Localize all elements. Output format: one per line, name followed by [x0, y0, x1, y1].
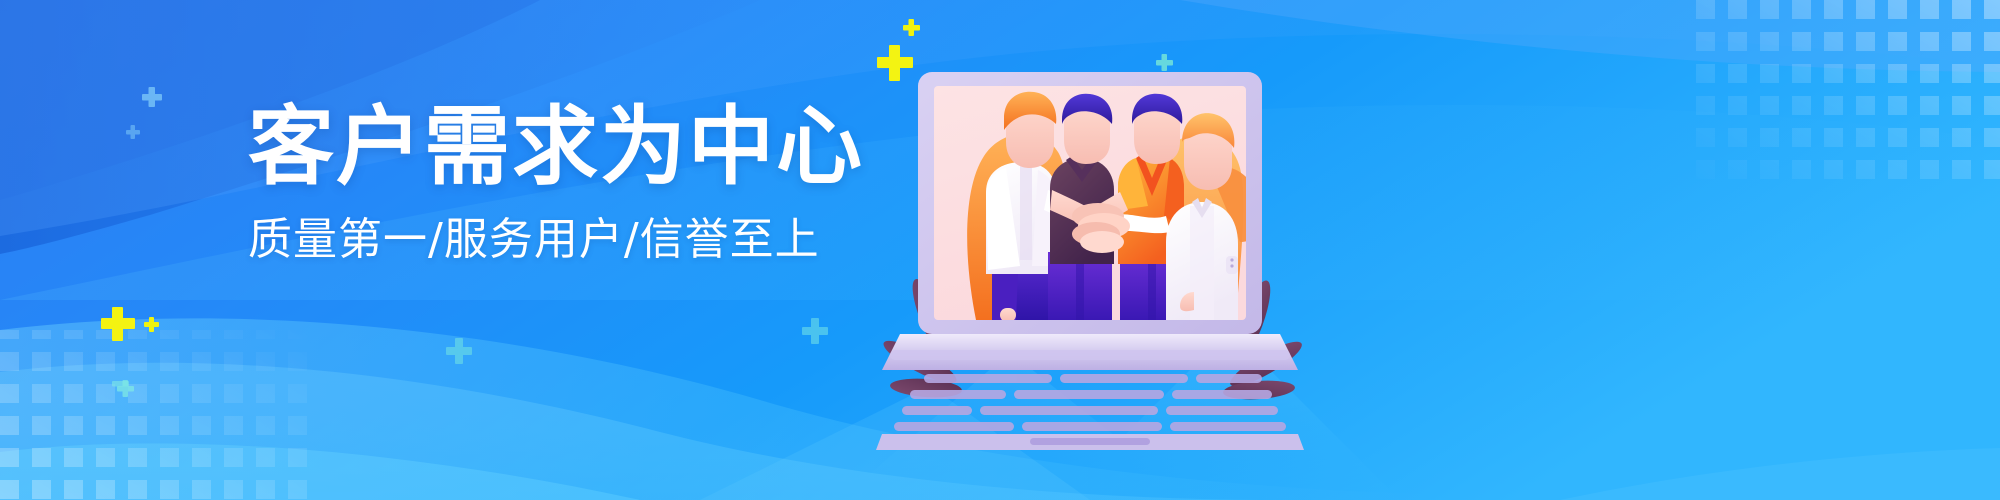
laptop-team-illustration: [880, 20, 1300, 490]
keyboard-keys: [894, 374, 1286, 431]
dot-grid-bottom-left: [0, 330, 310, 500]
spark-cyan-bottom-left: [117, 380, 134, 397]
spark-cyan-upper-left-small: [126, 125, 140, 139]
laptop-base: [876, 334, 1304, 450]
text-block: 客户需求为中心 质量第一/服务用户/信誉至上: [248, 104, 848, 264]
spark-yellow-bottom-left: [101, 307, 135, 341]
spark-yellow-bottom-left-small: [144, 317, 159, 332]
headline: 客户需求为中心: [248, 104, 848, 192]
spark-cyan-upper-left: [142, 87, 162, 107]
spark-cyan-mid-left: [112, 381, 129, 387]
promo-banner: 客户需求为中心 质量第一/服务用户/信誉至上: [0, 0, 2000, 500]
subheadline: 质量第一/服务用户/信誉至上: [248, 216, 848, 264]
spark-cyan-laptop-left: [802, 318, 828, 344]
dot-grid-top-right: [1690, 0, 2000, 190]
spark-cyan-center: [446, 338, 472, 364]
